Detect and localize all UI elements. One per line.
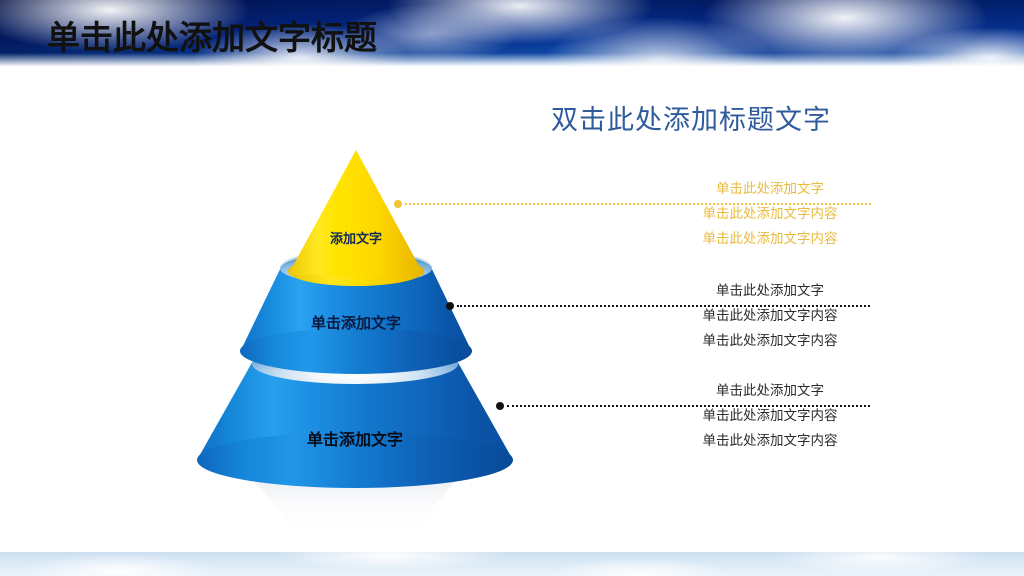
callout-3-text-block: 单击此处添加文字 单击此处添加文字内容 单击此处添加文字内容	[620, 379, 920, 454]
pyramid-tier-1-label[interactable]: 添加文字	[288, 228, 424, 247]
callout-1-start-dot-icon	[394, 200, 402, 208]
callout-1-line-2[interactable]: 单击此处添加文字内容	[620, 202, 920, 227]
callout-3-line-3[interactable]: 单击此处添加文字内容	[620, 429, 920, 454]
callout-2-line-3[interactable]: 单击此处添加文字内容	[620, 329, 920, 354]
callout-1-text-block: 单击此处添加文字 单击此处添加文字内容 单击此处添加文字内容	[620, 177, 920, 252]
pyramid-tier-3-label[interactable]: 单击添加文字	[197, 426, 513, 450]
callout-1-line-1[interactable]: 单击此处添加文字	[620, 177, 920, 202]
callout-2-line-2[interactable]: 单击此处添加文字内容	[620, 304, 920, 329]
footer-sky-banner	[0, 552, 1024, 576]
section-subtitle[interactable]: 双击此处添加标题文字	[551, 103, 831, 139]
callout-3-start-dot-icon	[496, 402, 504, 410]
pyramid-tier-1-cone[interactable]	[288, 150, 424, 275]
callout-2-line-1[interactable]: 单击此处添加文字	[620, 279, 920, 304]
slide-canvas: 单击此处添加文字标题 双击此处添加标题文字 单击添加文字 单击添加文字 添加文字…	[0, 0, 1024, 576]
callout-3-line-2[interactable]: 单击此处添加文字内容	[620, 404, 920, 429]
pyramid-diagram: 单击添加文字 单击添加文字 添加文字	[175, 140, 535, 535]
page-title[interactable]: 单击此处添加文字标题	[47, 18, 377, 58]
pyramid-tier-2-base-ellipse	[240, 328, 472, 374]
callout-2-start-dot-icon	[446, 302, 454, 310]
pyramid-tier-2-label[interactable]: 单击添加文字	[240, 312, 472, 333]
callout-1-line-3[interactable]: 单击此处添加文字内容	[620, 227, 920, 252]
callout-3-line-1[interactable]: 单击此处添加文字	[620, 379, 920, 404]
callout-2-text-block: 单击此处添加文字 单击此处添加文字内容 单击此处添加文字内容	[620, 279, 920, 354]
